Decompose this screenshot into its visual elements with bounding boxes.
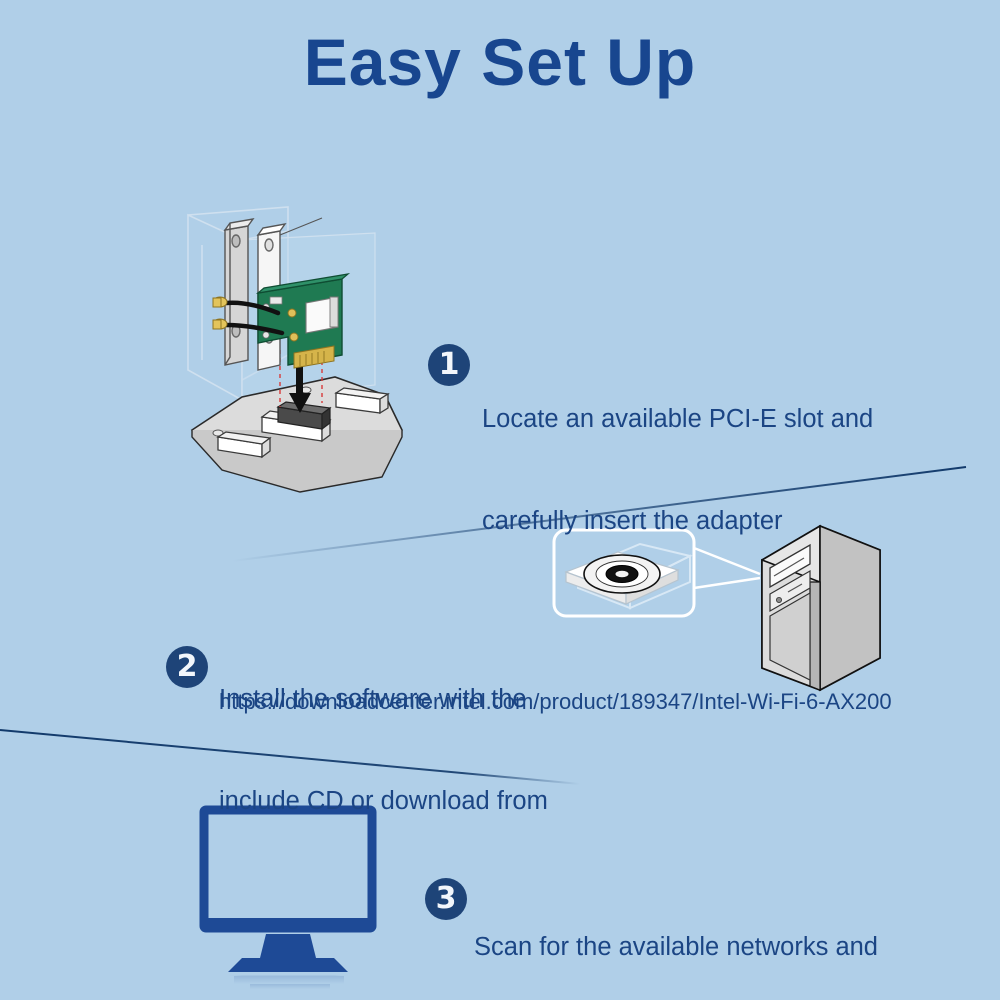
- download-url[interactable]: https://downloadcenter.intel.com/product…: [219, 688, 892, 716]
- step-3-badge: 3: [425, 878, 467, 920]
- leader-line: [280, 218, 322, 235]
- step-1-line-1: Locate an available PCI-E slot and: [482, 402, 873, 436]
- page-title: Easy Set Up: [0, 28, 1000, 97]
- monitor-base: [228, 958, 348, 972]
- step-2-text: Install the software with the include CD…: [219, 614, 548, 886]
- step-1-text: Locate an available PCI-E slot and caref…: [482, 334, 873, 606]
- step-1-line-2: carefully insert the adapter: [482, 504, 873, 538]
- step-3-text: Scan for the available networks and conn…: [474, 862, 878, 1000]
- monitor-reflection: [228, 975, 348, 989]
- step-3-line-1: Scan for the available networks and: [474, 930, 878, 964]
- step-2-badge: 2: [166, 646, 208, 688]
- easy-setup-infographic: Easy Set Up: [0, 0, 1000, 1000]
- pci-card-insertion-illustration: [170, 185, 440, 495]
- step-2-line-2: include CD or download from: [219, 784, 548, 818]
- monitor-neck: [260, 934, 316, 958]
- step-1-badge: 1: [428, 344, 470, 386]
- monitor-chin: [204, 918, 372, 932]
